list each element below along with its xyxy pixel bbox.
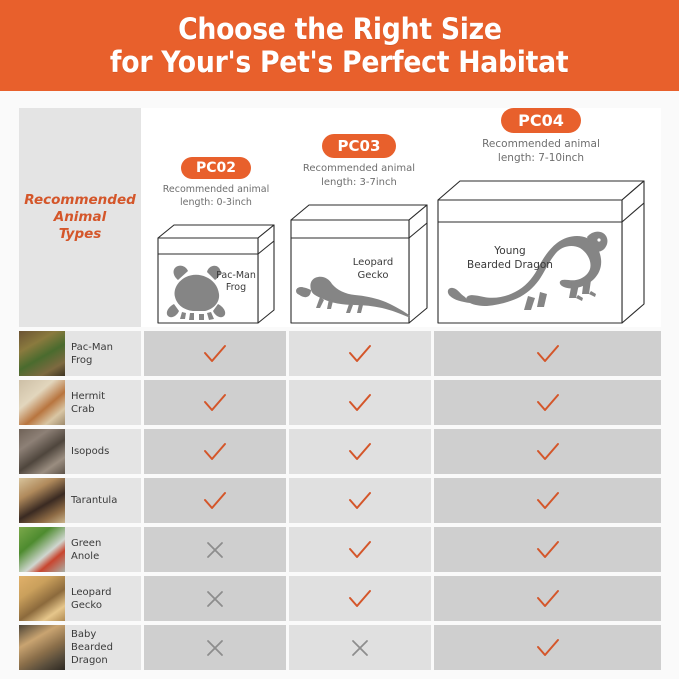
row-label-cell: HermitCrab bbox=[19, 380, 141, 425]
cross-icon bbox=[202, 588, 228, 610]
pc03-animal-name-line-1: Leopard bbox=[353, 257, 393, 268]
tarantula-photo bbox=[19, 478, 65, 523]
row-name-line-1: Baby Bearded bbox=[71, 629, 113, 653]
label-line-3: Types bbox=[59, 226, 102, 242]
cell-r7-c1 bbox=[144, 625, 286, 670]
pc03-desc-line-2: length: 3-7inch bbox=[321, 177, 397, 188]
cell-r2-c3 bbox=[434, 380, 661, 425]
pc03-enclosure-illustration: Leopard Gecko bbox=[285, 194, 433, 327]
row-name: Baby BeardedDragon bbox=[65, 628, 141, 667]
cell-r6-c1 bbox=[144, 576, 286, 621]
pc02-description: Recommended animal length: 0-3inch bbox=[163, 183, 270, 209]
pc04-description: Recommended animal length: 7-10inch bbox=[482, 137, 600, 165]
cell-r3-c3 bbox=[434, 429, 661, 474]
pc02-desc-line-1: Recommended animal bbox=[163, 184, 270, 195]
row-label-cell: Isopods bbox=[19, 429, 141, 474]
cell-r2-c1 bbox=[144, 380, 286, 425]
row-name: GreenAnole bbox=[65, 537, 101, 563]
row-name: Pac-ManFrog bbox=[65, 341, 113, 367]
banner-title-line-1: Choose the Right Size bbox=[178, 13, 502, 46]
recommended-animal-types-label: Recommended Animal Types bbox=[24, 192, 136, 243]
row-label-cell: GreenAnole bbox=[19, 527, 141, 572]
cell-r4-c1 bbox=[144, 478, 286, 523]
cell-r7-c3 bbox=[434, 625, 661, 670]
cell-r2-c2 bbox=[289, 380, 431, 425]
pc03-description: Recommended animal length: 3-7inch bbox=[303, 162, 415, 189]
row-name-line-1: Pac-Man bbox=[71, 342, 113, 353]
check-icon bbox=[535, 588, 561, 610]
table-row: HermitCrab bbox=[19, 380, 661, 425]
baby-bearded-dragon-photo bbox=[19, 625, 65, 670]
check-icon bbox=[347, 392, 373, 414]
product-column-pc02[interactable]: PC02 Recommended animal length: 0-3inch bbox=[141, 157, 291, 327]
cell-r1-c1 bbox=[144, 331, 286, 376]
row-name-line-2: Anole bbox=[71, 551, 99, 562]
table-row: GreenAnole bbox=[19, 527, 661, 572]
row-name: Isopods bbox=[65, 445, 109, 458]
row-label-cell: Tarantula bbox=[19, 478, 141, 523]
cell-r6-c3 bbox=[434, 576, 661, 621]
pc04-desc-line-2: length: 7-10inch bbox=[498, 152, 584, 164]
green-anole-photo bbox=[19, 527, 65, 572]
comparison-table: Recommended Animal Types PC02 Recommende… bbox=[19, 108, 661, 670]
pc02-desc-line-2: length: 0-3inch bbox=[180, 197, 252, 208]
pc04-desc-line-1: Recommended animal bbox=[482, 138, 600, 150]
cell-r6-c2 bbox=[289, 576, 431, 621]
check-icon bbox=[347, 343, 373, 365]
row-name-line-1: Hermit bbox=[71, 391, 105, 402]
label-line-1: Recommended bbox=[24, 192, 136, 208]
row-label-cell: LeopardGecko bbox=[19, 576, 141, 621]
cell-r5-c1 bbox=[144, 527, 286, 572]
cell-r1-c3 bbox=[434, 331, 661, 376]
pc04-animal-name-line-2: Bearded Dragon bbox=[467, 259, 553, 271]
page-banner: Choose the Right Size for Your's Pet's P… bbox=[0, 0, 679, 91]
check-icon bbox=[202, 343, 228, 365]
table-row: Tarantula bbox=[19, 478, 661, 523]
row-name: Tarantula bbox=[65, 494, 117, 507]
check-icon bbox=[347, 539, 373, 561]
check-icon bbox=[535, 490, 561, 512]
check-icon bbox=[535, 392, 561, 414]
row-name-line-2: Dragon bbox=[71, 655, 108, 666]
hermit-crab-photo bbox=[19, 380, 65, 425]
product-column-pc03[interactable]: PC03 Recommended animal length: 3-7inch bbox=[283, 134, 435, 327]
check-icon bbox=[202, 490, 228, 512]
table-row: Baby BeardedDragon bbox=[19, 625, 661, 670]
pc02-enclosure-illustration: Pac-Man Frog bbox=[152, 214, 280, 327]
check-icon bbox=[535, 539, 561, 561]
cell-r5-c2 bbox=[289, 527, 431, 572]
cell-r3-c1 bbox=[144, 429, 286, 474]
product-columns-area: PC02 Recommended animal length: 0-3inch bbox=[141, 108, 661, 327]
table-row: LeopardGecko bbox=[19, 576, 661, 621]
row-label-cell: Baby BeardedDragon bbox=[19, 625, 141, 670]
row-name-line-1: Isopods bbox=[71, 446, 109, 457]
table-header-row: Recommended Animal Types PC02 Recommende… bbox=[19, 108, 661, 327]
pc04-box-svg: Young Bearded Dragon bbox=[432, 170, 650, 327]
pc04-animal-name-line-1: Young bbox=[493, 245, 525, 257]
pc02-animal-name-line-2: Frog bbox=[226, 282, 246, 293]
table-row: Pac-ManFrog bbox=[19, 331, 661, 376]
cell-r5-c3 bbox=[434, 527, 661, 572]
cell-r4-c2 bbox=[289, 478, 431, 523]
badge-pc04: PC04 bbox=[501, 108, 581, 133]
row-name-line-1: Leopard bbox=[71, 587, 111, 598]
isopods-photo bbox=[19, 429, 65, 474]
cross-icon bbox=[202, 539, 228, 561]
row-name-line-2: Gecko bbox=[71, 600, 102, 611]
pc03-desc-line-1: Recommended animal bbox=[303, 163, 415, 174]
check-icon bbox=[535, 343, 561, 365]
row-name-line-2: Frog bbox=[71, 355, 92, 366]
row-header-title-cell: Recommended Animal Types bbox=[19, 108, 141, 327]
cell-r4-c3 bbox=[434, 478, 661, 523]
row-name: LeopardGecko bbox=[65, 586, 111, 612]
pc04-enclosure-illustration: Young Bearded Dragon bbox=[432, 170, 650, 327]
row-name: HermitCrab bbox=[65, 390, 105, 416]
check-icon bbox=[347, 490, 373, 512]
cell-r7-c2 bbox=[289, 625, 431, 670]
cell-r3-c2 bbox=[289, 429, 431, 474]
cell-r1-c2 bbox=[289, 331, 431, 376]
leopard-gecko-photo bbox=[19, 576, 65, 621]
row-name-line-1: Tarantula bbox=[71, 495, 117, 506]
label-line-2: Animal bbox=[54, 209, 107, 225]
table-row: Isopods bbox=[19, 429, 661, 474]
pc02-animal-name-line-1: Pac-Man bbox=[216, 270, 256, 281]
check-icon bbox=[347, 588, 373, 610]
badge-pc03: PC03 bbox=[322, 134, 397, 158]
check-icon bbox=[535, 637, 561, 659]
pacman-frog-photo bbox=[19, 331, 65, 376]
check-icon bbox=[347, 441, 373, 463]
table-body: Pac-ManFrogHermitCrabIsopodsTarantulaGre… bbox=[19, 331, 661, 670]
comparison-sheet: Recommended Animal Types PC02 Recommende… bbox=[0, 91, 679, 679]
check-icon bbox=[202, 441, 228, 463]
pc02-box-svg: Pac-Man Frog bbox=[152, 214, 280, 327]
row-name-line-1: Green bbox=[71, 538, 101, 549]
row-label-cell: Pac-ManFrog bbox=[19, 331, 141, 376]
banner-title-line-2: for Your's Pet's Perfect Habitat bbox=[110, 46, 568, 79]
product-column-pc04[interactable]: PC04 Recommended animal length: 7-10inch bbox=[425, 108, 657, 327]
cross-icon bbox=[347, 637, 373, 659]
check-icon bbox=[535, 441, 561, 463]
row-name-line-2: Crab bbox=[71, 404, 95, 415]
pc03-animal-name-line-2: Gecko bbox=[358, 270, 389, 281]
badge-pc02: PC02 bbox=[181, 157, 251, 179]
pc03-box-svg: Leopard Gecko bbox=[285, 194, 433, 327]
check-icon bbox=[202, 392, 228, 414]
cross-icon bbox=[202, 637, 228, 659]
